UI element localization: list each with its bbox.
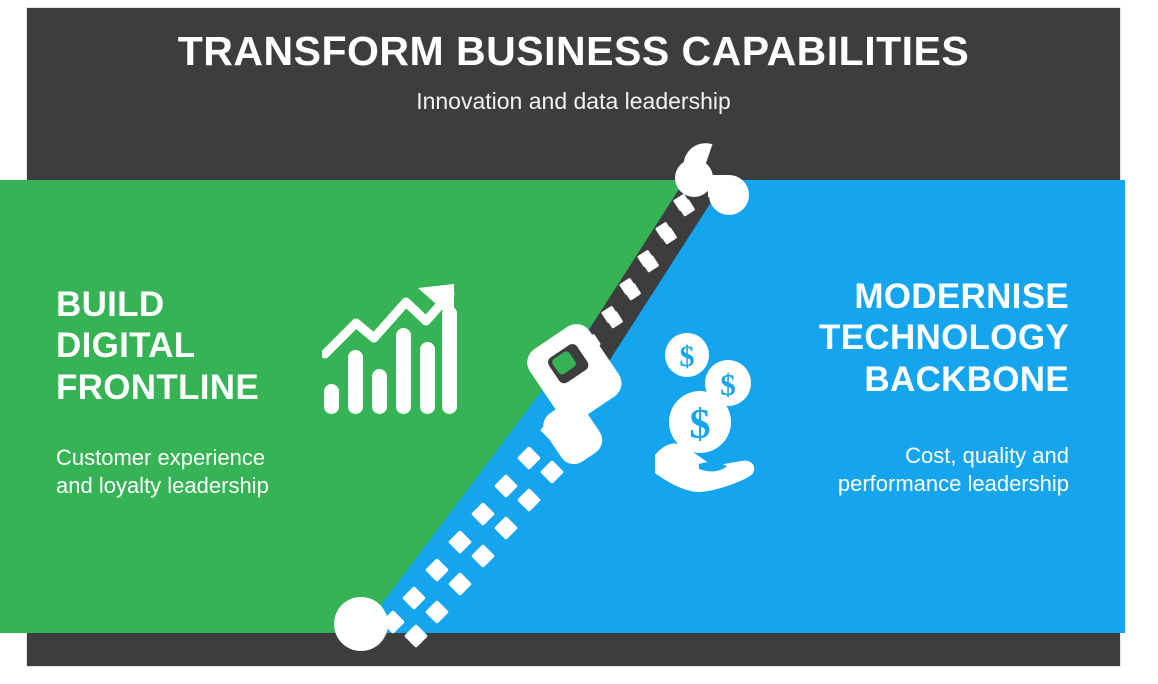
- svg-text:$: $: [690, 402, 711, 448]
- growth-chart-bar-3: [372, 369, 387, 414]
- growth-chart-bar-1: [324, 384, 339, 414]
- growth-chart-bar-6: [442, 306, 457, 414]
- slide-canvas: TRANSFORM BUSINESS CAPABILITIES Innovati…: [0, 0, 1158, 684]
- svg-text:$: $: [680, 340, 695, 373]
- coin-lower-center: $: [669, 391, 731, 453]
- svg-text:$: $: [720, 367, 736, 402]
- growth-chart-bar-4: [396, 328, 411, 414]
- panel-band: BUILD DIGITAL FRONTLINE Customer experie…: [0, 180, 1125, 633]
- hand-with-coins-icon: $ $ $: [655, 330, 795, 495]
- coin-top-left: $: [665, 333, 709, 377]
- growth-chart-icon: [322, 276, 458, 416]
- growth-chart-bar-5: [420, 342, 435, 414]
- growth-chart-bar-2: [348, 350, 363, 414]
